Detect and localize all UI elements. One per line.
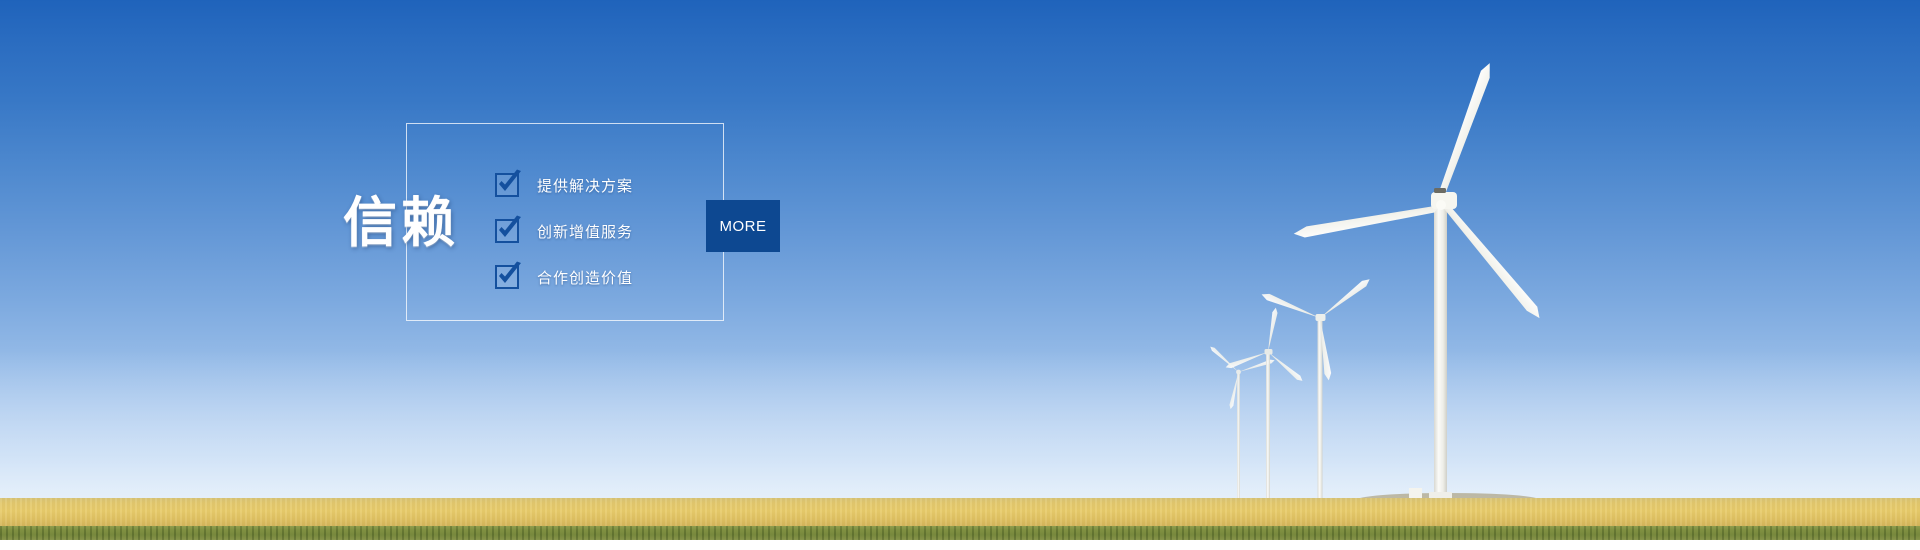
turbine-mid xyxy=(1260,277,1371,501)
list-item: 创新增值服务 xyxy=(495,208,735,254)
turbine-small-a xyxy=(1225,307,1304,500)
check-icon-glyph xyxy=(495,168,525,198)
list-item-label: 提供解决方案 xyxy=(537,175,633,196)
list-item-label: 合作创造价值 xyxy=(537,267,633,288)
more-button[interactable]: MORE xyxy=(706,200,780,252)
turbine-main xyxy=(1293,60,1546,502)
check-icon-glyph xyxy=(495,214,525,244)
feature-checklist: 提供解决方案 创新增值服务 合作创造价值 xyxy=(495,162,735,300)
check-icon xyxy=(495,219,519,243)
check-icon-glyph xyxy=(495,260,525,290)
turbine-small-b xyxy=(1209,345,1275,500)
page-title: 信赖 xyxy=(343,192,473,254)
wind-turbines-group xyxy=(0,0,1920,550)
bottom-white-strip xyxy=(0,540,1920,550)
hero-banner: 信赖 提供解决方案 创新增值服务 合 xyxy=(0,0,1920,550)
list-item: 提供解决方案 xyxy=(495,162,735,208)
check-icon xyxy=(495,265,519,289)
check-icon xyxy=(495,173,519,197)
list-item: 合作创造价值 xyxy=(495,254,735,300)
list-item-label: 创新增值服务 xyxy=(537,221,633,242)
